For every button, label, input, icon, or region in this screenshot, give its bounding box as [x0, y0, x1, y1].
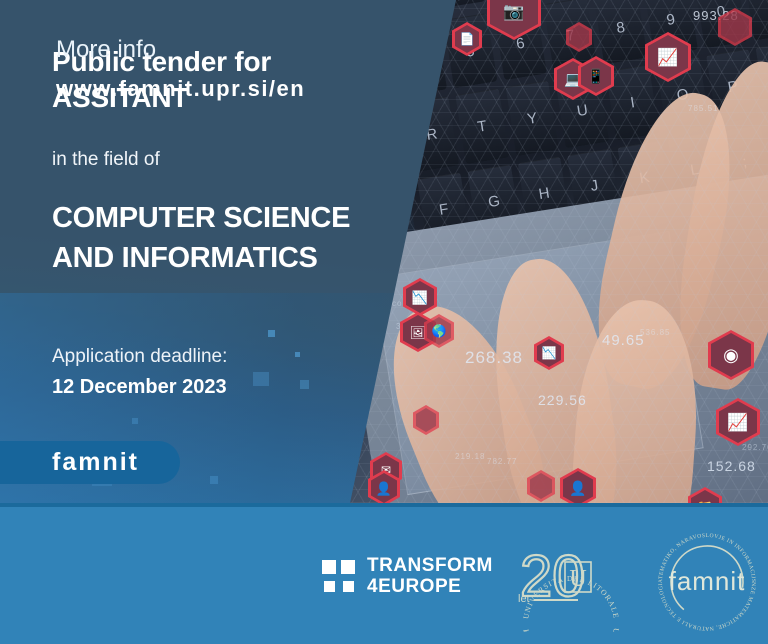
- up-ring-bottom: UNIVERZA NA PRIMORSKEM: [521, 627, 621, 632]
- hud-number: 152.68: [707, 458, 756, 474]
- up-let-label: let: [518, 593, 530, 605]
- t4e-line-1: TRANSFORM: [367, 556, 493, 577]
- t4e-square: [324, 581, 335, 592]
- footer-text: More info www.famnit.upr.si/en: [56, 36, 305, 102]
- field-title-line-1: COMPUTER SCIENCE: [52, 198, 412, 238]
- blip: [210, 476, 218, 484]
- hud-number: 536.85: [640, 328, 670, 337]
- hud-number: 268.38: [465, 348, 523, 368]
- up-monogram: U: [569, 566, 586, 592]
- t4e-square: [322, 560, 336, 574]
- hud-number: 229.56: [538, 392, 587, 408]
- field-title-line-2: AND INFORMATICS: [52, 238, 412, 278]
- transform4europe-logo[interactable]: TRANSFORM 4EUROPE: [322, 556, 493, 597]
- famnit-pill-label: famnit: [52, 448, 139, 477]
- blip: [132, 418, 138, 424]
- t4e-squares-icon: [322, 560, 355, 593]
- famnit-pill-badge[interactable]: famnit: [0, 441, 180, 484]
- t4e-square: [343, 581, 354, 592]
- field-title: COMPUTER SCIENCE AND INFORMATICS: [52, 198, 412, 278]
- poster: F4 F5 F6 F7 F8 F9 F10 F11 F12 4 5 6 7 8 …: [0, 0, 768, 644]
- famnit-seal-logo[interactable]: FAKULTETA ZA MATEMATIKO, NARAVOSLOVJE IN…: [650, 524, 764, 636]
- seal-wordmark: famnit: [669, 566, 746, 596]
- hud-number: 782.77: [487, 457, 517, 466]
- up-anniversary-logo[interactable]: UNIVERSITA DEL LITORALE UNIVERZA NA PRIM…: [512, 528, 630, 632]
- deadline-date: 12 December 2023: [52, 376, 412, 399]
- deadline-label: Application deadline:: [52, 346, 412, 368]
- t4e-wordmark: TRANSFORM 4EUROPE: [367, 556, 493, 597]
- hud-number: 292.76: [742, 443, 768, 452]
- hud-number: 219.18: [455, 452, 485, 461]
- hud-number: 49.65: [602, 332, 645, 349]
- svg-text:UNIVERZA NA PRIMORSKEM: UNIVERZA NA PRIMORSKEM: [521, 627, 621, 632]
- t4e-square: [341, 560, 355, 574]
- more-info-label: More info: [56, 36, 305, 64]
- website-url[interactable]: www.famnit.upr.si/en: [56, 76, 305, 102]
- t4e-line-2: 4EUROPE: [367, 577, 493, 598]
- field-intro: in the field of: [52, 149, 412, 171]
- hud-number: 785.51: [688, 104, 718, 113]
